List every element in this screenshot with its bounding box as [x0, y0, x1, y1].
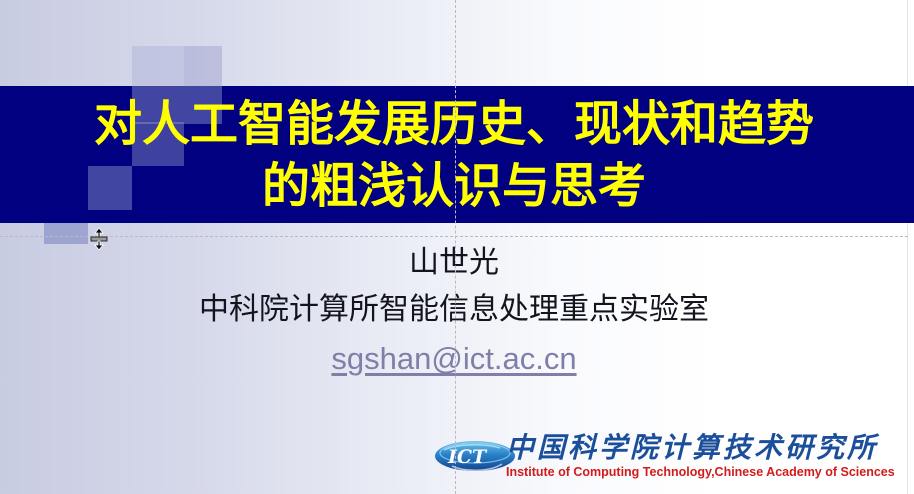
- deco-square-overlay-1: [132, 86, 184, 124]
- author-name: 山世光: [0, 243, 908, 283]
- footer-logo-block: ICT 中国科学院计算技术研究所 Institute of Computing …: [434, 432, 894, 486]
- svg-text:ICT: ICT: [447, 446, 488, 468]
- deco-square-overlay-2: [184, 86, 222, 124]
- ict-logo-icon: ICT: [434, 436, 516, 476]
- email-link[interactable]: sgshan@ict.ac.cn: [331, 341, 576, 377]
- presentation-slide: 对人工智能发展历史、现状和趋势 的粗浅认识与思考 山世光 中科院计算所智能信息处…: [0, 0, 914, 494]
- deco-square-navy: [0, 122, 43, 157]
- vertical-resize-cursor[interactable]: [90, 228, 108, 250]
- slide-outer-margin: [908, 0, 914, 494]
- affiliation-name: 中科院计算所智能信息处理重点实验室: [0, 287, 908, 333]
- institute-name-cn: 中国科学院计算技术研究所: [506, 432, 896, 464]
- deco-square-overlay-3: [132, 122, 184, 166]
- slide-subtitle-block: 山世光 中科院计算所智能信息处理重点实验室 sgshan@ict.ac.cn: [0, 243, 908, 377]
- footer-text-group: 中国科学院计算技术研究所 Institute of Computing Tech…: [506, 432, 896, 480]
- guide-vertical: [455, 0, 456, 494]
- institute-name-en: Institute of Computing Technology,Chines…: [506, 465, 896, 480]
- guide-horizontal: [0, 236, 908, 237]
- deco-square-overlay-4: [88, 166, 132, 210]
